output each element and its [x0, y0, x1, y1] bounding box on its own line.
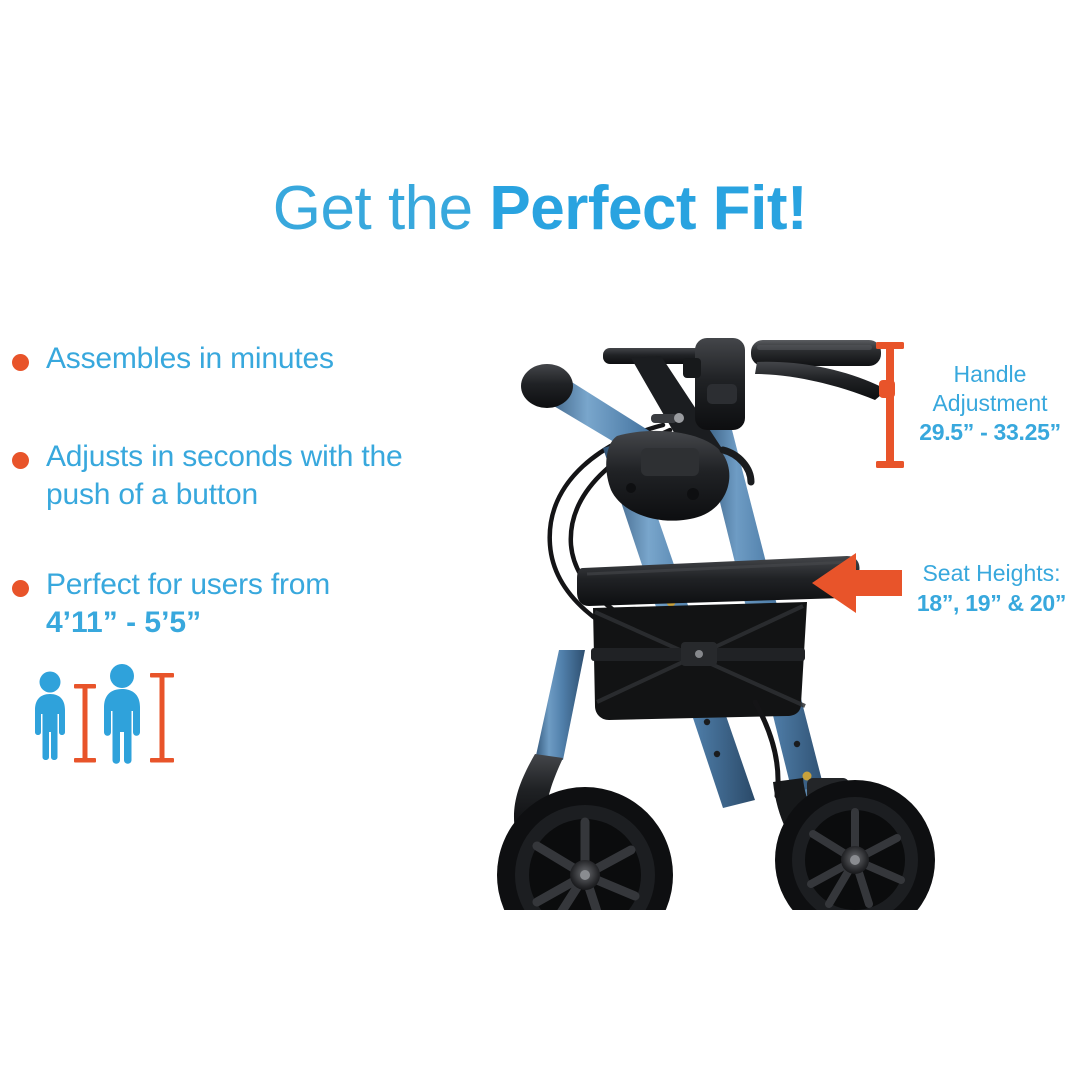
bullet-dot-icon	[12, 580, 29, 597]
callout-handle-value: 29.5” - 33.25”	[900, 418, 1080, 447]
list-item: Adjusts in seconds with the push of a bu…	[8, 438, 448, 514]
list-item-label: Assembles in minutes	[46, 340, 448, 378]
user-height-illustration	[30, 662, 190, 792]
bullet-dot-icon	[12, 354, 29, 371]
list-item-text: Adjusts in seconds with the push of a bu…	[46, 440, 402, 511]
cable-adjuster	[651, 413, 684, 423]
arrow-left-icon	[808, 548, 904, 618]
storage-basket	[591, 602, 807, 720]
height-bracket-icon	[150, 673, 174, 763]
person-short-icon	[35, 672, 65, 761]
list-item: Assembles in minutes	[8, 340, 448, 378]
page-title-bold: Perfect Fit!	[489, 174, 807, 243]
feature-list: Assembles in minutes Adjusts in seconds …	[8, 340, 448, 642]
height-bracket-icon	[74, 684, 96, 763]
callout-handle-line2: Adjustment	[900, 389, 1080, 418]
page-title-regular: Get the	[273, 174, 490, 243]
page-title: Get the Perfect Fit!	[0, 174, 1080, 244]
callout-seat-value: 18”, 19” & 20”	[903, 588, 1080, 618]
person-tall-icon	[104, 664, 140, 764]
user-height-range: 4’11” - 5’5”	[46, 606, 201, 639]
callout-seat-heights: Seat Heights: 18”, 19” & 20”	[903, 558, 1080, 618]
list-item-label: Adjusts in seconds with the push of a bu…	[46, 438, 438, 514]
callout-handle-adjustment: Handle Adjustment 29.5” - 33.25”	[900, 360, 1080, 447]
bullet-dot-icon	[12, 452, 29, 469]
list-item-text: Perfect for users from	[46, 568, 330, 601]
infographic-canvas: Get the Perfect Fit! Assembles in minute…	[0, 0, 1080, 1080]
list-item-label: Perfect for users from 4’11” - 5’5”	[46, 566, 438, 642]
callout-seat-line1: Seat Heights:	[903, 558, 1080, 588]
callout-handle-line1: Handle	[900, 360, 1080, 389]
list-item: Perfect for users from 4’11” - 5’5”	[8, 566, 448, 642]
